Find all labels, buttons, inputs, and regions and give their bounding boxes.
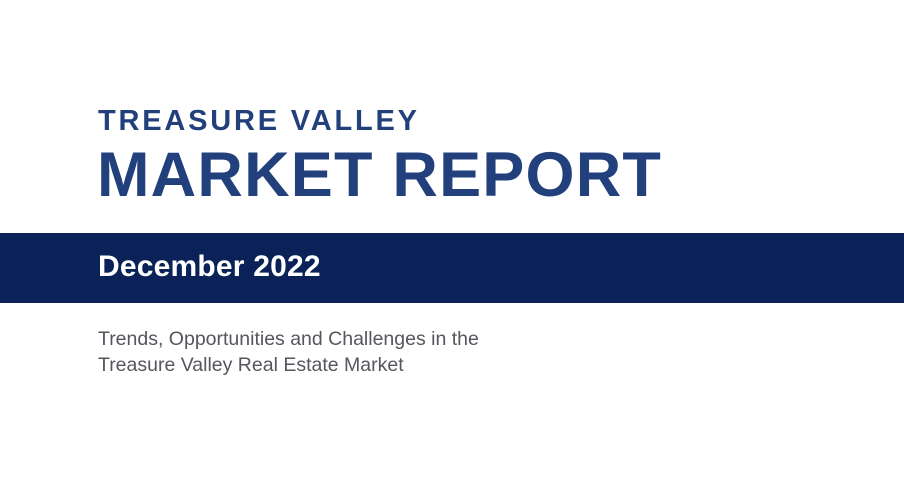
page-title: MARKET REPORT: [97, 144, 662, 207]
report-date-label: December 2022: [98, 252, 321, 282]
subtitle-line-2: Treasure Valley Real Estate Market: [98, 352, 658, 378]
report-subtitle: Trends, Opportunities and Challenges in …: [98, 326, 658, 378]
date-band: December 2022: [0, 233, 904, 303]
report-eyebrow-title: TREASURE VALLEY: [98, 107, 420, 136]
subtitle-line-1: Trends, Opportunities and Challenges in …: [98, 326, 658, 352]
market-report-cover: TREASURE VALLEY MARKET REPORT December 2…: [0, 0, 904, 484]
